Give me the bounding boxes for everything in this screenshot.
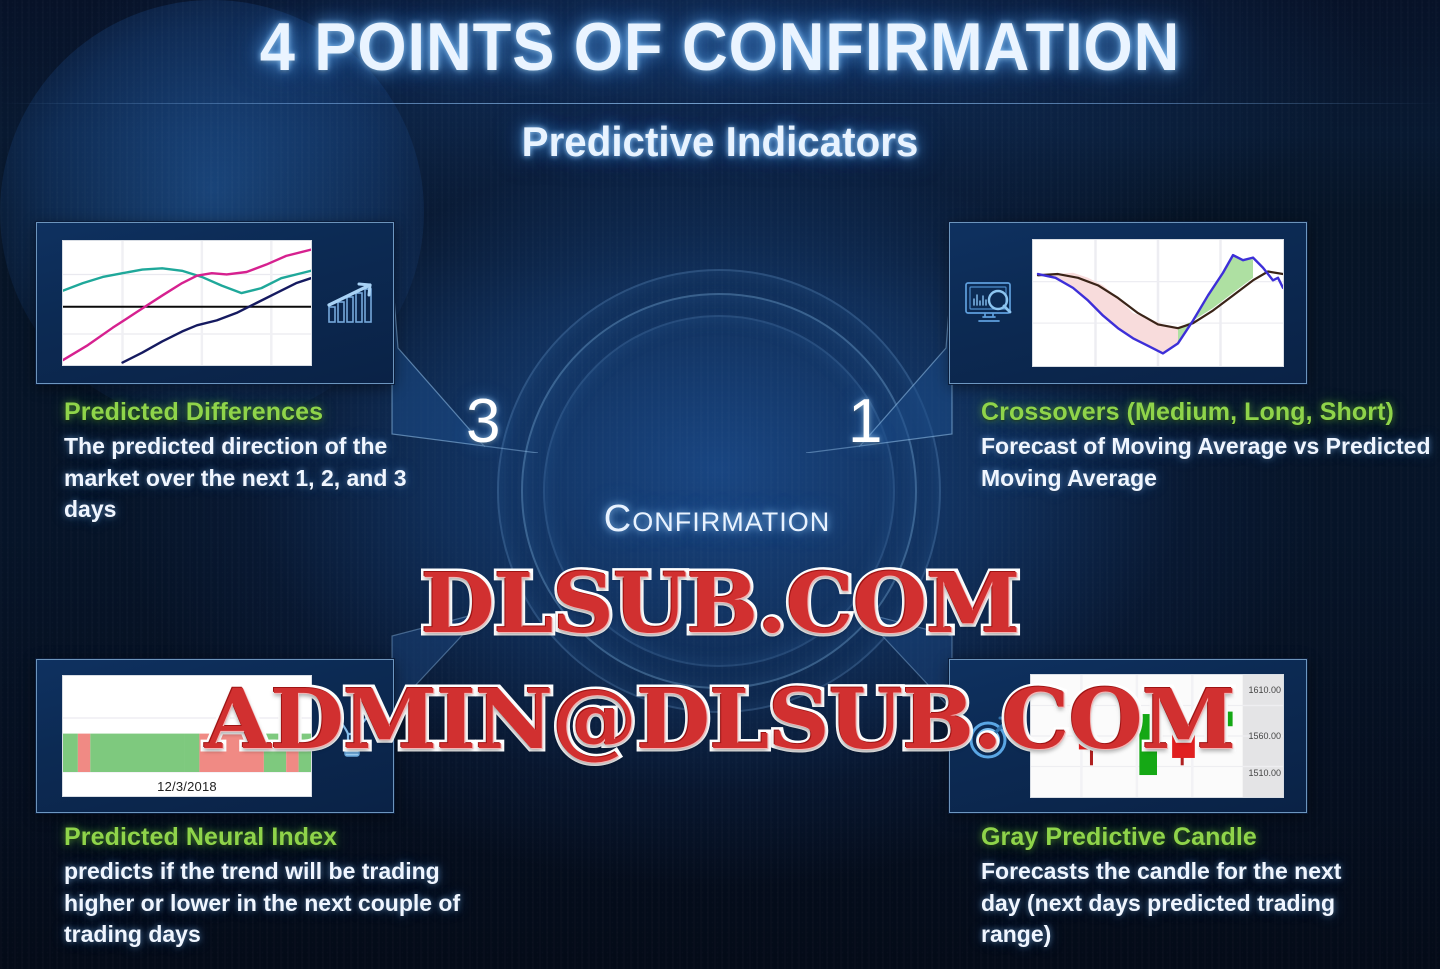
caption-body: Forecasts the candle for the next day (n…: [981, 856, 1381, 951]
point-number-3: 3: [466, 391, 500, 453]
caption-heading: Gray Predictive Candle: [981, 823, 1381, 852]
caption-neural-index: Predicted Neural Index predicts if the t…: [64, 823, 464, 951]
page-title: 4 POINTS OF CONFIRMATION: [50, 8, 1389, 86]
panel-predicted-differences[interactable]: [36, 222, 394, 384]
page-subtitle: Predictive Indicators: [29, 118, 1411, 166]
caption-body: The predicted direction of the market ov…: [64, 431, 434, 526]
caption-body: Forecast of Moving Average vs Predicted …: [981, 431, 1440, 494]
point-number-1: 1: [848, 391, 882, 453]
bar-chart-uptrend-icon: [312, 281, 392, 325]
caption-predictive-candle: Gray Predictive Candle Forecasts the can…: [981, 823, 1381, 951]
caption-heading: Predicted Differences: [64, 398, 434, 427]
caption-crossovers: Crossovers (Medium, Long, Short) Forecas…: [981, 398, 1440, 494]
caption-body: predicts if the trend will be trading hi…: [64, 856, 464, 951]
thumbnail-crossovers: [1032, 239, 1284, 367]
caption-heading: Predicted Neural Index: [64, 823, 464, 852]
price-tick-low: 1510.00: [1248, 768, 1281, 778]
watermark-site-fill: DLSUB.COM: [0, 556, 1440, 652]
caption-heading: Crossovers (Medium, Long, Short): [981, 398, 1440, 427]
thumbnail-predicted-differences: [62, 240, 312, 366]
slide-canvas: 4 POINTS OF CONFIRMATION Predictive Indi…: [0, 0, 1440, 969]
panel-crossovers[interactable]: [949, 222, 1307, 384]
header-divider: [0, 103, 1440, 104]
monitor-analytics-icon: [950, 279, 1032, 327]
caption-predicted-differences: Predicted Differences The predicted dire…: [64, 398, 434, 526]
thumbnail-date-label: 12/3/2018: [63, 779, 311, 794]
watermark-email-fill: ADMIN@DLSUB.COM: [0, 672, 1440, 768]
center-label: CONFIRMATION: [497, 498, 937, 541]
